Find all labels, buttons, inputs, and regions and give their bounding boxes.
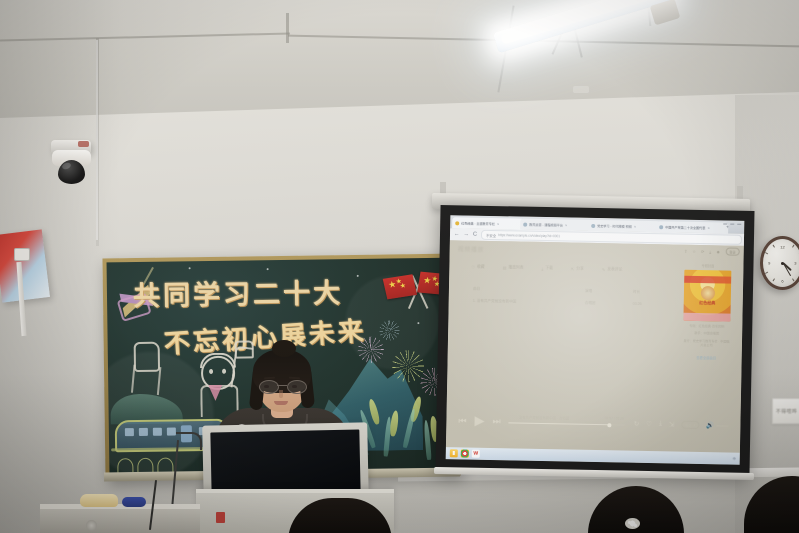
classroom-photo: 共同学习二十大 不忘初心展未来 ★ ★ ★ ★ ★ ★ bbox=[0, 0, 799, 533]
presenter-nose bbox=[279, 390, 283, 398]
track-table: 曲目 演唱 时长 1. 没有共产党就没有新中国 合唱团 03:26 bbox=[473, 283, 681, 311]
progress-area[interactable]: 没有共产党就没有新中国 - 合唱团 02:57 / 03:26 bbox=[509, 414, 626, 430]
cell-title: 1. 没有共产党就没有新中国 bbox=[473, 298, 585, 305]
tab-close-icon[interactable]: ✕ bbox=[565, 223, 568, 227]
filter-label: 播放列表 bbox=[508, 265, 523, 270]
filter-playlist[interactable]: ▤ 播放列表 bbox=[503, 265, 524, 270]
presenter-eye bbox=[292, 385, 297, 388]
column-duration: 时长 bbox=[633, 289, 681, 295]
playlist-icon: ▤ bbox=[503, 265, 507, 270]
heart-icon: ♡ bbox=[471, 265, 475, 270]
cover-footer bbox=[683, 312, 730, 321]
page-toolbar: ⇪ ☆ ⟳ ⤓ ☻ 登录 bbox=[684, 247, 740, 256]
chalk-child-eye bbox=[209, 369, 213, 374]
view-all-link[interactable]: 查看全部曲目 bbox=[683, 355, 730, 361]
back-icon[interactable]: ← bbox=[454, 231, 460, 237]
time-display: 02:57 / 03:26 bbox=[605, 416, 624, 420]
podium-edge bbox=[196, 489, 394, 493]
album-meta-2: 歌手：中国合唱团 bbox=[683, 331, 730, 336]
tab-label: 党史学习 - 时代楷模 视频 bbox=[597, 224, 632, 229]
hair-tie bbox=[625, 518, 640, 529]
volume-slider[interactable] bbox=[716, 425, 728, 426]
cover-figure bbox=[700, 286, 714, 300]
folder-icon[interactable]: ▮ bbox=[450, 449, 458, 457]
clock-numeral: 12 bbox=[780, 245, 784, 250]
share-icon: ⇱ bbox=[571, 267, 574, 272]
presenter-mouth bbox=[274, 401, 288, 405]
chinese-flag: ★ ★ ★ bbox=[383, 274, 417, 299]
quality-label: 标清 bbox=[685, 422, 691, 427]
system-tray[interactable]: 中 bbox=[733, 457, 736, 461]
chevron-down-icon: ▾ bbox=[694, 423, 696, 427]
favorite-icon[interactable]: ♡ bbox=[646, 420, 652, 428]
filter-label: 下载 bbox=[545, 266, 553, 271]
progress-knob[interactable] bbox=[607, 423, 611, 427]
ceiling-seam bbox=[286, 13, 289, 43]
filter-label: 发表评论 bbox=[607, 267, 622, 272]
progress-bar[interactable] bbox=[509, 422, 626, 425]
close-icon[interactable] bbox=[737, 224, 741, 225]
glasses-lens bbox=[259, 380, 279, 394]
wps-icon[interactable]: W bbox=[472, 450, 480, 458]
page-title: 视频播放 bbox=[458, 244, 485, 254]
volume-icon[interactable]: 🔊 bbox=[706, 421, 714, 429]
poster-clip bbox=[14, 248, 30, 261]
tab-label: 教育资源 - 课程视频平台 bbox=[529, 222, 563, 227]
download-icon[interactable]: ⤓ bbox=[659, 420, 662, 428]
cabinet-knob[interactable] bbox=[86, 520, 97, 531]
gooseneck-microphone bbox=[176, 432, 202, 450]
minimize-icon[interactable] bbox=[723, 223, 727, 224]
clock-numeral: 9 bbox=[768, 261, 770, 266]
clock-numeral: 3 bbox=[794, 261, 796, 266]
tab-favicon bbox=[591, 223, 595, 227]
previous-track-button[interactable]: ⏮ bbox=[458, 415, 466, 426]
chalk-arm bbox=[131, 365, 161, 395]
web-page-content: 视频播放 ⇪ ☆ ⟳ ⤓ ☻ 登录 ♡ 收藏 ▤ 播放列表 bbox=[446, 240, 744, 453]
filter-label: 分享 bbox=[576, 267, 584, 272]
chalk-child-eye bbox=[222, 369, 226, 374]
projected-desktop: 红色经典 - 主题教育专栏 ✕ 教育资源 - 课程视频平台 ✕ 党史学习 - 时… bbox=[446, 215, 745, 465]
clock-center-pin bbox=[781, 262, 784, 265]
filter-share[interactable]: ⇱ 分享 bbox=[571, 267, 584, 272]
side-cabinet-top bbox=[40, 504, 200, 509]
progress-fill bbox=[509, 422, 610, 425]
chalk-child-hand bbox=[235, 340, 254, 358]
media-player-controls: ⏮ ▶ ⏭ 没有共产党就没有新中国 - 合唱团 02:57 / 03:26 ↻ … bbox=[446, 409, 740, 437]
tab-favicon bbox=[659, 225, 663, 229]
play-button[interactable]: ▶ bbox=[474, 413, 484, 429]
page-filter-row: ♡ 收藏 ▤ 播放列表 ⤓ 下载 ⇱ 分享 bbox=[471, 265, 701, 274]
camera-mount-accent bbox=[78, 141, 89, 147]
chrome-icon[interactable] bbox=[461, 449, 469, 457]
maximize-icon[interactable] bbox=[730, 224, 734, 225]
album-meta-1: 专辑：红色经典·百年回响 bbox=[683, 323, 730, 328]
player-right-icons: ↻ ♡ ⤓ ⇲ 标清 ▾ 🔊 bbox=[634, 420, 729, 430]
download-icon[interactable]: ⤓ bbox=[709, 249, 711, 254]
album-cover-image[interactable]: 红色经典 bbox=[683, 269, 731, 321]
tab-label: 红色经典 - 主题教育专栏 bbox=[461, 221, 495, 226]
presenter-eye bbox=[264, 385, 269, 388]
volume-control[interactable]: 🔊 bbox=[706, 421, 728, 429]
cover-title: 红色经典 bbox=[684, 299, 731, 306]
presenter-hair-bun bbox=[272, 340, 296, 357]
ceiling-junction-box bbox=[573, 86, 589, 93]
new-tab-button[interactable]: + bbox=[726, 224, 729, 230]
album-card: 专辑封面 红色经典 专辑：红色经典·百年回响 歌手：中国合唱团 发行：党史学习教… bbox=[683, 263, 732, 361]
album-meta-3: 发行：党史学习教育专栏 · 中国唱片总公司 bbox=[683, 338, 730, 348]
tab-favicon bbox=[455, 221, 459, 225]
column-artist: 演唱 bbox=[585, 288, 633, 294]
url-text: https://www.example.cn/video/play?id=000… bbox=[498, 233, 560, 238]
blackboard-headline-1: 共同学习二十大 bbox=[133, 271, 344, 313]
glasses-lens bbox=[287, 380, 307, 394]
filter-label: 收藏 bbox=[477, 265, 485, 270]
profile-icon[interactable]: ☻ bbox=[716, 249, 720, 254]
filter-download[interactable]: ⤓ 下载 bbox=[541, 266, 552, 271]
filter-favorite[interactable]: ♡ 收藏 bbox=[471, 265, 484, 270]
history-icon[interactable]: ⟳ bbox=[701, 249, 704, 254]
chinese-flag-poster bbox=[0, 229, 50, 302]
wall-clock: 12 3 6 9 bbox=[760, 236, 799, 290]
now-playing-label: 没有共产党就没有新中国 - 合唱团 bbox=[519, 415, 570, 421]
share-icon[interactable]: ⇲ bbox=[669, 420, 675, 428]
tab-close-icon[interactable]: ✕ bbox=[634, 224, 637, 228]
cell-duration: 03:26 bbox=[633, 302, 681, 307]
tab-label: 中国共产党第二十次全国代表 bbox=[665, 225, 705, 230]
glasses-bridge bbox=[277, 385, 287, 386]
column-title: 曲目 bbox=[473, 286, 585, 293]
wall-sign: 不得喧哗 bbox=[772, 398, 799, 424]
share-icon[interactable]: ⇪ bbox=[684, 248, 687, 253]
next-track-button[interactable]: ⏭ bbox=[492, 416, 500, 427]
not-secure-label: 不安全 bbox=[486, 232, 496, 237]
forward-icon[interactable]: → bbox=[463, 231, 469, 237]
filter-comment[interactable]: ✎ 发表评论 bbox=[602, 267, 623, 272]
desk-object-blue bbox=[122, 497, 146, 507]
login-button[interactable]: 登录 bbox=[725, 247, 740, 255]
projector-screen: 红色经典 - 主题教育专栏 ✕ 教育资源 - 课程视频平台 ✕ 党史学习 - 时… bbox=[435, 205, 754, 476]
reload-icon[interactable]: C bbox=[473, 232, 477, 238]
star-icon[interactable]: ☆ bbox=[692, 248, 696, 253]
quality-selector[interactable]: 标清 ▾ bbox=[681, 421, 699, 430]
repeat-icon[interactable]: ↻ bbox=[634, 420, 640, 428]
album-caption: 专辑封面 bbox=[684, 263, 731, 269]
download-icon: ⤓ bbox=[541, 266, 543, 271]
cover-band bbox=[684, 275, 731, 283]
desk-object-paper bbox=[80, 494, 118, 507]
clock-numeral: 6 bbox=[781, 279, 783, 284]
comment-icon: ✎ bbox=[602, 267, 605, 272]
monitor-screen[interactable] bbox=[210, 429, 360, 495]
cell-artist: 合唱团 bbox=[585, 300, 633, 306]
tab-close-icon[interactable]: ✕ bbox=[707, 226, 710, 230]
tab-close-icon[interactable]: ✕ bbox=[497, 222, 500, 226]
tab-favicon bbox=[523, 222, 527, 226]
red-badge bbox=[216, 512, 225, 523]
